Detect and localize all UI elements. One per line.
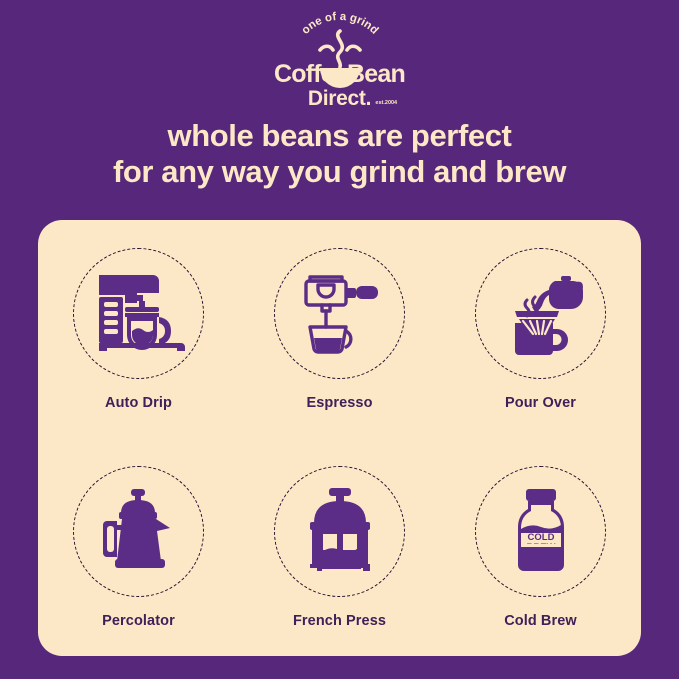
pour-over-circle bbox=[475, 248, 606, 379]
logo-name-line1: CoffeeBean bbox=[0, 62, 679, 87]
brew-method-label: Espresso bbox=[306, 395, 372, 411]
brew-method-label: Percolator bbox=[102, 613, 175, 629]
brew-method-label: Pour Over bbox=[505, 395, 576, 411]
logo-established: est.2004 bbox=[375, 100, 397, 106]
percolator-pot-icon bbox=[91, 485, 187, 577]
brew-methods-grid: Auto Drip bbox=[38, 220, 641, 656]
auto-drip-circle bbox=[73, 248, 204, 379]
french-press-circle bbox=[274, 466, 405, 597]
steam-left-icon bbox=[320, 46, 333, 50]
brew-method-pour-over[interactable]: Pour Over bbox=[440, 220, 641, 438]
cold-brew-label-line2: BREW bbox=[526, 542, 555, 553]
auto-drip-coffee-maker-icon bbox=[91, 267, 187, 359]
brew-method-label: Auto Drip bbox=[105, 395, 172, 411]
logo-wordmark: CoffeeBean Direct. est.2004 bbox=[0, 62, 679, 110]
cold-brew-bottle-icon: COLD BREW bbox=[493, 485, 589, 577]
cold-brew-circle: COLD BREW bbox=[475, 466, 606, 597]
brew-method-french-press[interactable]: French Press bbox=[239, 438, 440, 656]
brew-method-label: Cold Brew bbox=[504, 613, 577, 629]
french-press-icon bbox=[292, 485, 388, 577]
headline-line-1: whole beans are perfect bbox=[168, 118, 512, 153]
steam-right-icon bbox=[347, 46, 360, 50]
espresso-portafilter-icon bbox=[292, 267, 388, 359]
percolator-circle bbox=[73, 466, 204, 597]
headline-line-2: for any way you grind and brew bbox=[0, 154, 679, 190]
brew-method-label: French Press bbox=[293, 613, 386, 629]
brew-method-espresso[interactable]: Espresso bbox=[239, 220, 440, 438]
logo-name-line2: Direct. bbox=[308, 87, 371, 110]
espresso-circle bbox=[274, 248, 405, 379]
brew-method-cold-brew[interactable]: COLD BREW Cold Brew bbox=[440, 438, 641, 656]
brew-method-percolator[interactable]: Percolator bbox=[38, 438, 239, 656]
brew-methods-card: Auto Drip bbox=[38, 220, 641, 656]
page-headline: whole beans are perfect for any way you … bbox=[0, 118, 679, 190]
pour-over-dripper-kettle-icon bbox=[493, 267, 589, 359]
brew-method-auto-drip[interactable]: Auto Drip bbox=[38, 220, 239, 438]
